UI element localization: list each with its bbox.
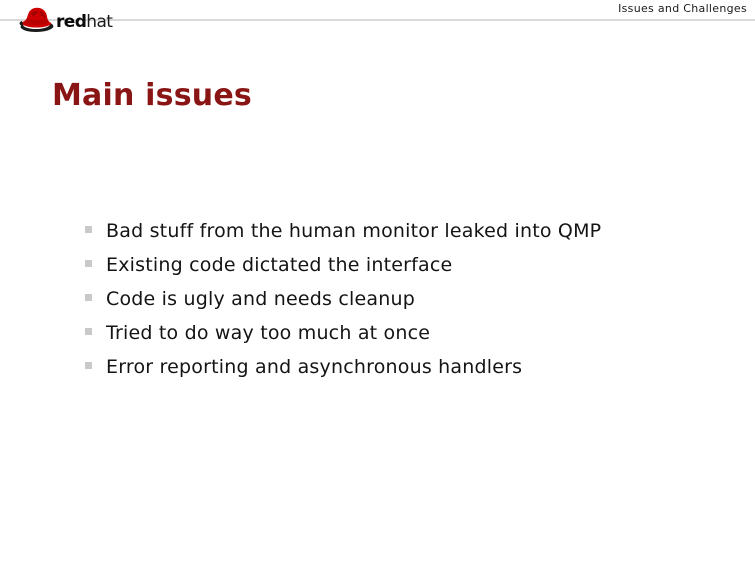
section-label: Issues and Challenges <box>618 2 747 15</box>
bullet-text: Error reporting and asynchronous handler… <box>106 358 522 377</box>
wordmark-red: red <box>56 12 86 32</box>
bullet-item: Error reporting and asynchronous handler… <box>85 358 725 392</box>
redhat-logo: redhat <box>19 6 112 34</box>
square-bullet-icon <box>85 328 92 335</box>
bullet-item: Existing code dictated the interface <box>85 256 725 290</box>
bullet-item: Code is ugly and needs cleanup <box>85 290 725 324</box>
slide-header: Issues and Challenges <box>0 0 755 21</box>
bullet-item: Tried to do way too much at once <box>85 324 725 358</box>
square-bullet-icon <box>85 362 92 369</box>
presentation-slide: Issues and Challenges redhat Main issues… <box>0 0 755 566</box>
square-bullet-icon <box>85 226 92 233</box>
wordmark-hat: hat <box>86 12 112 32</box>
bullet-list: Bad stuff from the human monitor leaked … <box>85 222 725 392</box>
redhat-shadowman-icon <box>19 7 55 33</box>
bullet-text: Existing code dictated the interface <box>106 256 452 275</box>
header-divider <box>0 19 755 21</box>
square-bullet-icon <box>85 260 92 267</box>
redhat-wordmark: redhat <box>56 14 112 31</box>
bullet-text: Tried to do way too much at once <box>106 324 430 343</box>
slide-title: Main issues <box>52 78 252 113</box>
bullet-text: Code is ugly and needs cleanup <box>106 290 415 309</box>
square-bullet-icon <box>85 294 92 301</box>
bullet-text: Bad stuff from the human monitor leaked … <box>106 222 601 241</box>
bullet-item: Bad stuff from the human monitor leaked … <box>85 222 725 256</box>
